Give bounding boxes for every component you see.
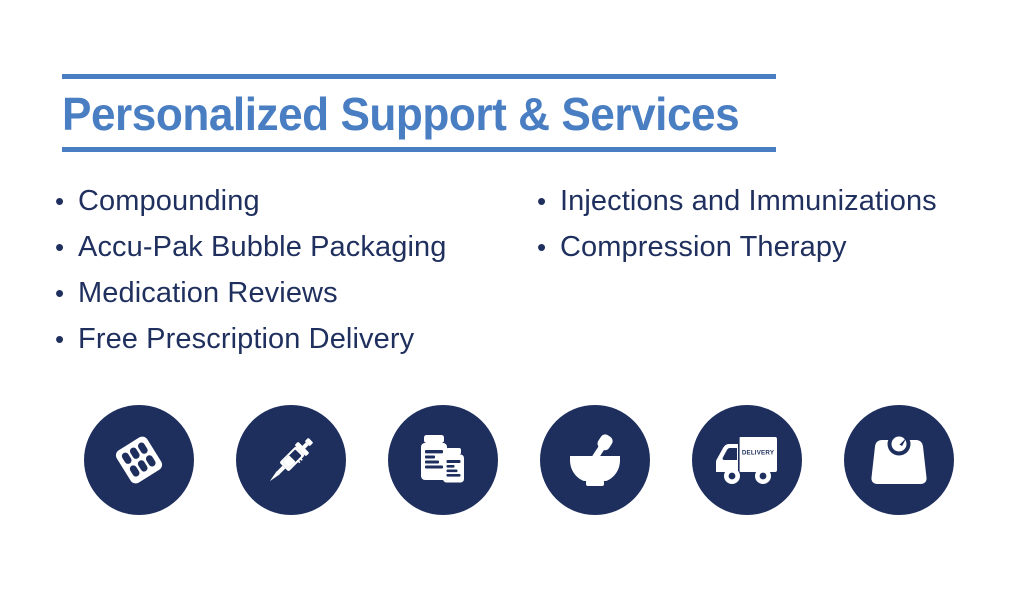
list-item: • Accu-Pak Bubble Packaging [55,224,525,270]
pill-bottles-icon [413,430,473,490]
list-item: • Compounding [55,178,525,224]
service-label-compression-therapy: Compression Therapy [560,224,847,270]
services-list: • Compounding • Accu-Pak Bubble Packagin… [0,178,1025,368]
list-bullet-icon: • [537,178,560,224]
list-bullet-icon: • [55,224,78,270]
service-label-free-prescription-delivery: Free Prescription Delivery [78,316,414,362]
list-item: • Compression Therapy [537,224,1017,270]
blister-pack-icon [108,429,170,491]
mortar-pestle-icon [563,430,627,490]
list-item: • Free Prescription Delivery [55,316,525,362]
service-label-injections-and-immunizations: Injections and Immunizations [560,178,937,224]
list-bullet-icon: • [55,316,78,362]
service-label-accu-pak-bubble-packaging: Accu-Pak Bubble Packaging [78,224,446,270]
icon-badge-delivery-truck: DELIVERY [692,405,802,515]
list-bullet-icon: • [537,224,560,270]
slide-canvas: Personalized Support & Services • Compou… [0,0,1025,590]
truck-delivery-label: DELIVERY [742,450,775,457]
syringe-icon [259,428,323,492]
title-rule-top [62,74,776,79]
page-title: Personalized Support & Services [62,91,747,137]
list-bullet-icon: • [55,178,78,224]
icon-badge-syringe [236,405,346,515]
icon-badge-blister-pack [84,405,194,515]
icon-badge-mortar-pestle [540,405,650,515]
service-label-medication-reviews: Medication Reviews [78,270,338,316]
list-item: • Injections and Immunizations [537,178,1017,224]
icon-row: DELIVERY [84,405,956,515]
services-left-column: • Compounding • Accu-Pak Bubble Packagin… [55,178,525,362]
weight-scale-icon [870,431,928,489]
list-bullet-icon: • [55,270,78,316]
title-block: Personalized Support & Services [62,74,776,152]
list-item: • Medication Reviews [55,270,525,316]
title-rule-bottom [62,147,776,152]
icon-badge-pill-bottles [388,405,498,515]
delivery-truck-icon: DELIVERY [713,432,781,488]
services-right-column: • Injections and Immunizations • Compres… [537,178,1017,270]
icon-badge-weight-scale [844,405,954,515]
service-label-compounding: Compounding [78,178,260,224]
